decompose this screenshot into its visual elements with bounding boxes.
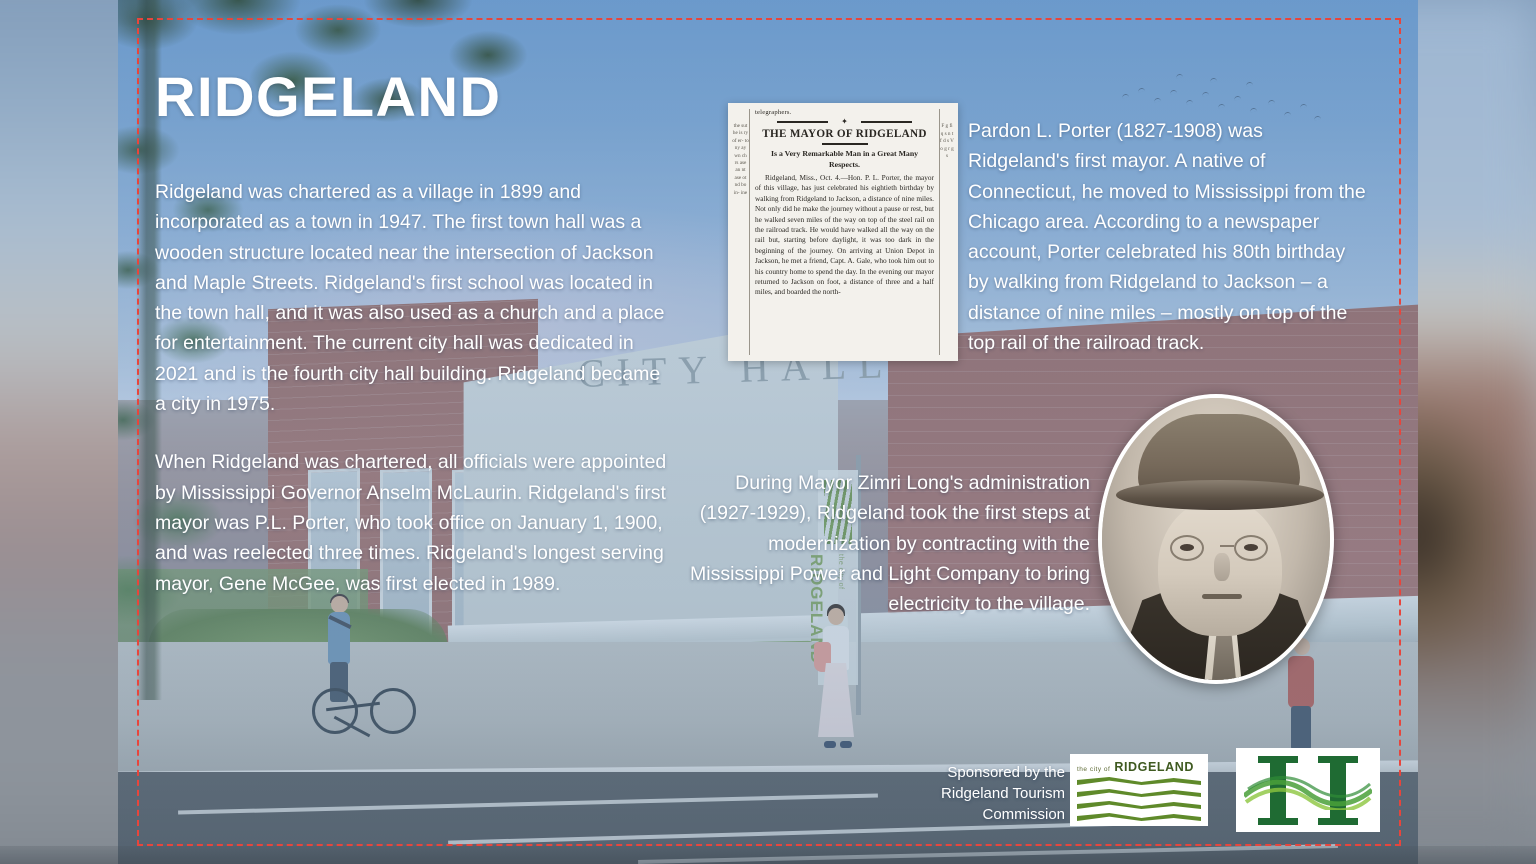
newspaper-clipping: the sut he is ry of er- to ny ay wn ch r…	[728, 103, 958, 361]
city-of-ridgeland-logo: the city of RIDGELAND	[1070, 754, 1208, 826]
poster-canvas: CITY HALL RIDGELAND the city of	[0, 0, 1536, 864]
logo-city-name: RIDGELAND	[1114, 760, 1194, 774]
logo-city-wave-graphic	[1077, 777, 1201, 823]
paragraph-officials: When Ridgeland was chartered, all offici…	[155, 447, 667, 598]
clipping-gutter-left: the sut he is ry of er- to ny ay wn ch r…	[732, 109, 749, 355]
h-monogram-logo	[1236, 748, 1380, 832]
mid-right-text-column: During Mayor Zimri Long's administration…	[690, 468, 1090, 619]
page-title: RIDGELAND	[155, 64, 501, 129]
clipping-gutter-right: F g fi q s n t f d s V o g r g s	[940, 109, 954, 355]
sponsor-line-1: Sponsored by the	[860, 762, 1065, 783]
sponsor-line-2: Ridgeland Tourism	[860, 783, 1065, 804]
clipping-ornament-rule: ✦	[777, 118, 912, 125]
clipping-main-column: telegraphers. ✦ THE MAYOR OF RIDGELAND I…	[749, 109, 940, 355]
content-layer: RIDGELAND Ridgeland was chartered as a v…	[0, 0, 1536, 864]
paragraph-porter: Pardon L. Porter (1827-1908) was Ridgela…	[968, 116, 1368, 358]
right-text-column: Pardon L. Porter (1827-1908) was Ridgela…	[968, 116, 1368, 358]
logo-city-small-text: the city of	[1077, 766, 1110, 773]
clipping-divider	[822, 143, 868, 145]
paragraph-zimri-long: During Mayor Zimri Long's administration…	[690, 468, 1090, 619]
sponsor-credit: Sponsored by the Ridgeland Tourism Commi…	[860, 762, 1065, 825]
clipping-column-note: telegraphers.	[755, 109, 934, 116]
h-logo-swoosh-icon	[1244, 776, 1372, 810]
clipping-headline: THE MAYOR OF RIDGELAND	[755, 128, 934, 140]
mayor-portrait-photo	[1098, 394, 1334, 684]
paragraph-history: Ridgeland was chartered as a village in …	[155, 177, 667, 419]
clipping-ornament-icon: ✦	[841, 118, 848, 126]
left-text-column: Ridgeland was chartered as a village in …	[155, 177, 667, 599]
clipping-subhead: Is a Very Remarkable Man in a Great Many…	[755, 149, 934, 170]
clipping-body-text: Ridgeland, Miss., Oct. 4.—Hon. P. L. Por…	[755, 173, 934, 298]
sponsor-line-3: Commission	[860, 804, 1065, 825]
